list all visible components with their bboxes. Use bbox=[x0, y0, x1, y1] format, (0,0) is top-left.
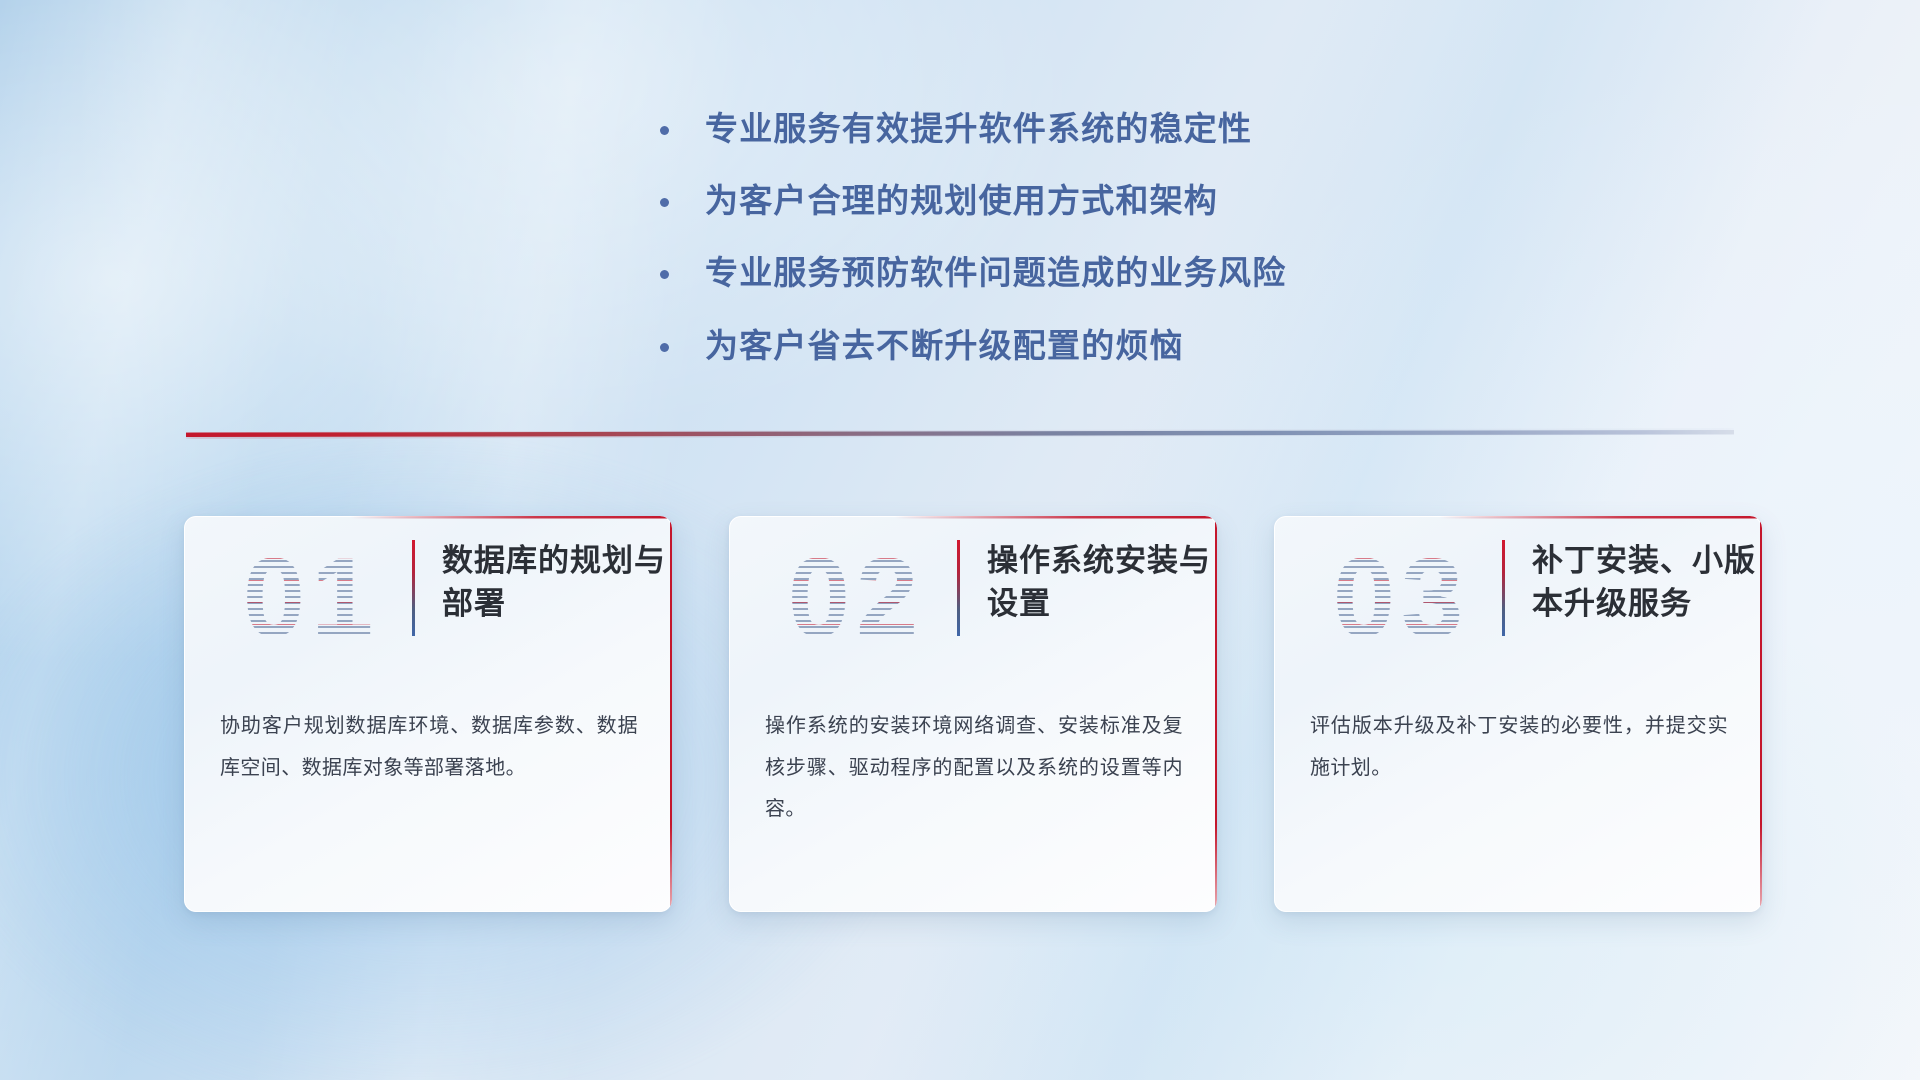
card-title-accent-bar bbox=[1502, 540, 1505, 636]
slide-canvas: 专业服务有效提升软件系统的稳定性 为客户合理的规划使用方式和架构 专业服务预防软… bbox=[0, 0, 1920, 1080]
card-title-accent-bar bbox=[957, 540, 960, 636]
service-card[interactable]: 01 01 数据库的规划与部署 协助客户规划数据库环境、数据库参数、数据库空间、… bbox=[184, 516, 672, 912]
bullet-dot-icon bbox=[660, 270, 669, 279]
card-title-accent-bar bbox=[412, 540, 415, 636]
card-body-text: 操作系统的安装环境网络调查、安装标准及复核步骤、驱动程序的配置以及系统的设置等内… bbox=[765, 706, 1183, 831]
card-title: 操作系统安装与设置 bbox=[987, 540, 1217, 626]
service-card[interactable]: 03 03 补丁安装、小版本升级服务 评估版本升级及补丁安装的必要性，并提交实施… bbox=[1274, 516, 1762, 912]
bullet-text: 为客户合理的规划使用方式和架构 bbox=[705, 180, 1218, 222]
list-item: 为客户合理的规划使用方式和架构 bbox=[660, 180, 1286, 222]
bullet-text: 专业服务有效提升软件系统的稳定性 bbox=[705, 108, 1252, 150]
service-card-group: 01 01 数据库的规划与部署 协助客户规划数据库环境、数据库参数、数据库空间、… bbox=[184, 516, 1762, 912]
service-card[interactable]: 02 02 操作系统安装与设置 操作系统的安装环境网络调查、安装标准及复核步骤、… bbox=[729, 516, 1217, 912]
benefits-bullet-list: 专业服务有效提升软件系统的稳定性 为客户合理的规划使用方式和架构 专业服务预防软… bbox=[660, 108, 1286, 397]
card-header: 补丁安装、小版本升级服务 bbox=[1502, 540, 1762, 636]
card-body-text: 协助客户规划数据库环境、数据库参数、数据库空间、数据库对象等部署落地。 bbox=[220, 706, 638, 789]
bullet-text: 专业服务预防软件问题造成的业务风险 bbox=[705, 252, 1286, 294]
card-number: 01 bbox=[216, 536, 406, 660]
card-number: 02 bbox=[761, 536, 951, 660]
list-item: 专业服务有效提升软件系统的稳定性 bbox=[660, 108, 1286, 150]
bullet-text: 为客户省去不断升级配置的烦恼 bbox=[705, 325, 1184, 367]
card-body-text: 评估版本升级及补丁安装的必要性，并提交实施计划。 bbox=[1310, 706, 1728, 789]
bullet-dot-icon bbox=[660, 126, 669, 135]
card-number: 03 bbox=[1306, 536, 1496, 660]
card-title: 数据库的规划与部署 bbox=[442, 540, 672, 626]
card-header: 操作系统安装与设置 bbox=[957, 540, 1217, 636]
card-header: 数据库的规划与部署 bbox=[412, 540, 672, 636]
list-item: 为客户省去不断升级配置的烦恼 bbox=[660, 325, 1286, 367]
section-divider bbox=[186, 424, 1734, 444]
card-title: 补丁安装、小版本升级服务 bbox=[1532, 540, 1762, 626]
list-item: 专业服务预防软件问题造成的业务风险 bbox=[660, 252, 1286, 294]
bullet-dot-icon bbox=[660, 343, 669, 352]
bullet-dot-icon bbox=[660, 198, 669, 207]
